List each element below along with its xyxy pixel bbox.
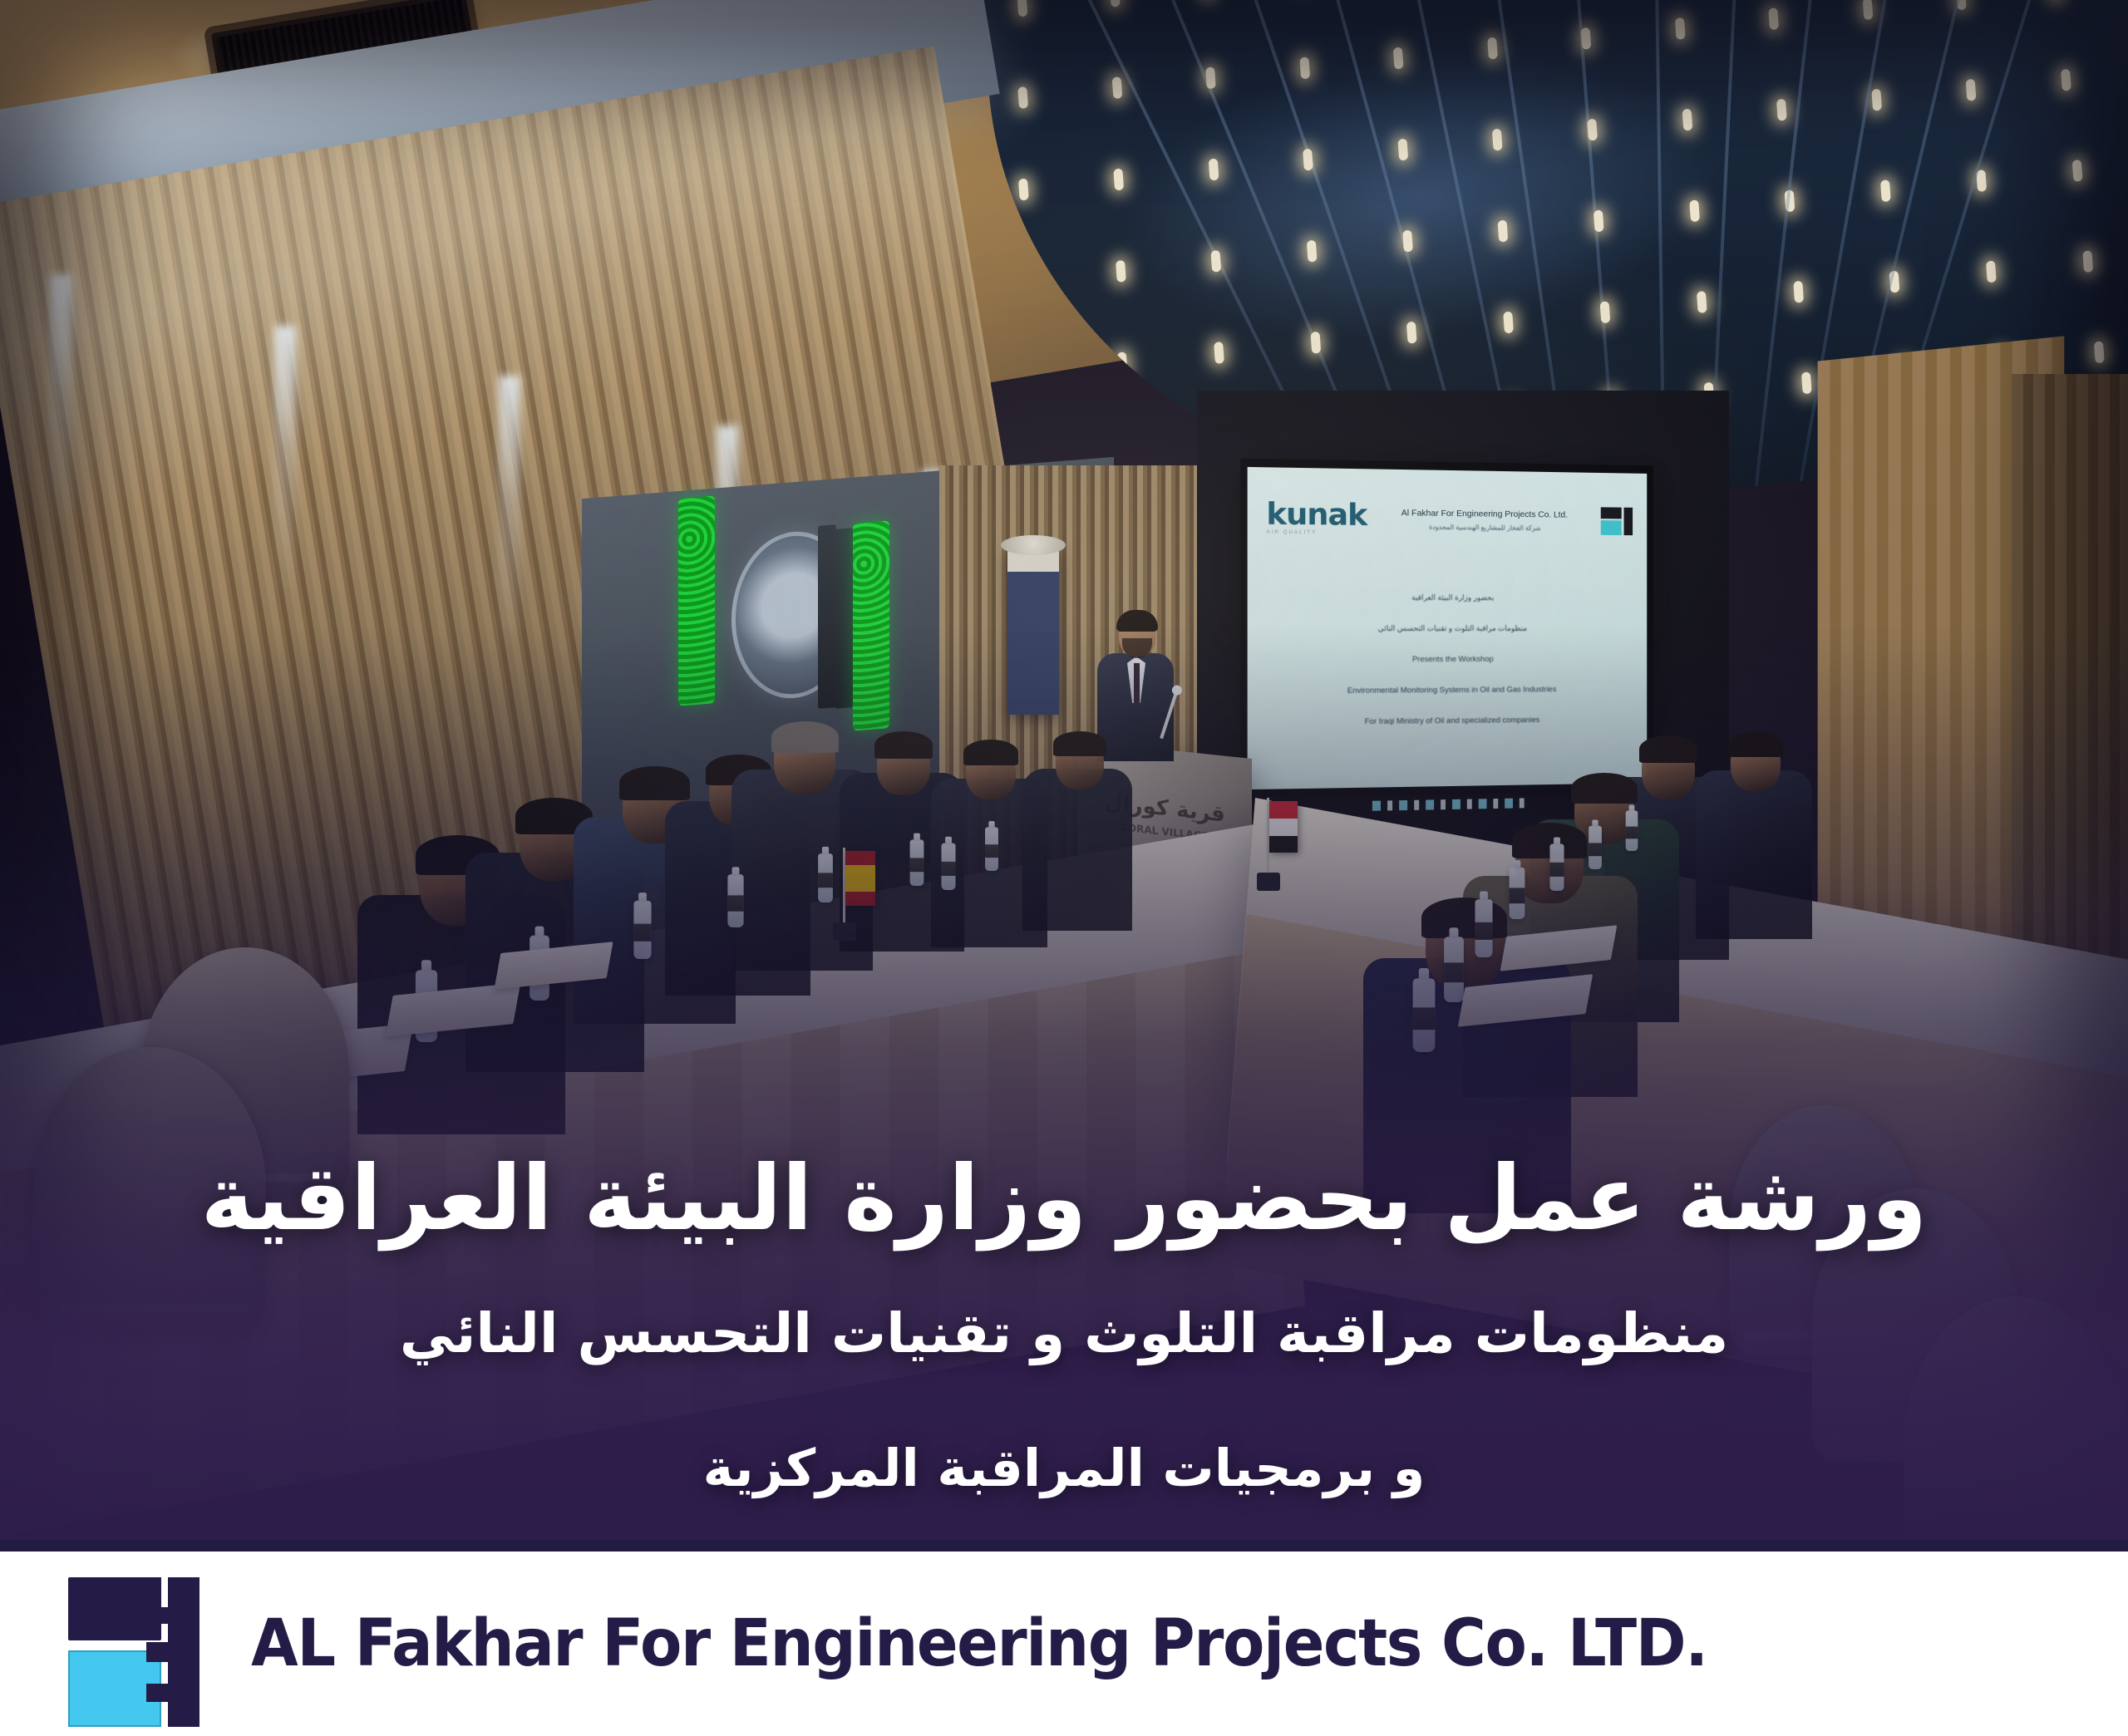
ceiling-led bbox=[1776, 99, 1787, 121]
ceiling-led bbox=[1310, 332, 1321, 354]
ceiling-led bbox=[1205, 66, 1216, 89]
ceiling-led bbox=[1793, 281, 1804, 303]
ceiling-led bbox=[2050, 0, 2061, 1]
slide-body: بحضور وزارة البيئة العراقية منظومات مراق… bbox=[1277, 593, 1623, 749]
wall-tapestry bbox=[1007, 548, 1059, 715]
wall-plaque bbox=[835, 528, 853, 709]
water-bottle bbox=[941, 843, 955, 890]
kunak-logo: kunak AIR QUALITY bbox=[1266, 499, 1367, 536]
ceiling-led bbox=[1116, 260, 1126, 283]
ceiling-led bbox=[1503, 311, 1514, 333]
ceiling-led bbox=[1674, 17, 1685, 40]
company-name: AL Fakhar For Engineering Projects Co. L… bbox=[251, 1606, 1707, 1681]
water-bottle bbox=[1510, 868, 1525, 919]
ceiling-led bbox=[1768, 7, 1779, 30]
ceiling-led bbox=[2061, 69, 2071, 91]
ceiling-led bbox=[1402, 230, 1413, 253]
slide-surface: kunak AIR QUALITY Al Fakhar For Engineer… bbox=[1248, 467, 1648, 789]
wall-downlight bbox=[50, 274, 71, 548]
ceiling-led bbox=[1487, 37, 1498, 60]
ceiling-led bbox=[1019, 270, 1030, 293]
ceiling-led bbox=[1581, 27, 1592, 50]
al-fakhar-logo-icon bbox=[60, 1571, 206, 1717]
ceiling-led bbox=[1406, 322, 1417, 344]
ceiling-led bbox=[1111, 76, 1122, 99]
water-bottle bbox=[985, 827, 998, 871]
ceiling-led bbox=[2094, 341, 2105, 363]
slide-header: kunak AIR QUALITY Al Fakhar For Engineer… bbox=[1266, 499, 1633, 539]
ceiling-led bbox=[1682, 109, 1692, 131]
ceiling-led bbox=[1113, 168, 1124, 190]
ceiling-led bbox=[1492, 129, 1503, 151]
ceiling-led bbox=[1594, 209, 1604, 232]
wall-plaque bbox=[818, 524, 836, 709]
water-bottle bbox=[727, 874, 743, 927]
ceiling-led bbox=[1689, 199, 1700, 222]
ceiling-led bbox=[1862, 0, 1873, 20]
water-bottle bbox=[633, 901, 651, 959]
ceiling-led bbox=[1017, 0, 1027, 17]
ceiling-led bbox=[1600, 301, 1611, 323]
brand-footer: AL Fakhar For Engineering Projects Co. L… bbox=[0, 1540, 2128, 1736]
ceiling-led bbox=[1018, 178, 1029, 200]
ceiling-led bbox=[1587, 119, 1598, 141]
ceiling-led bbox=[2082, 250, 2093, 273]
poster-subtitle-2: و برمجيات المراقبة المركزية bbox=[100, 1438, 2028, 1498]
water-bottle bbox=[1444, 937, 1464, 1002]
water-bottle bbox=[910, 839, 924, 886]
ceiling-led bbox=[1498, 219, 1509, 242]
ceiling-led bbox=[1801, 371, 1812, 394]
slide-company-block: Al Fakhar For Engineering Projects Co. L… bbox=[1375, 507, 1593, 532]
poster-title: ورشة عمل بحضور وزارة البيئة العراقية bbox=[100, 1149, 2028, 1250]
ceiling-led bbox=[1208, 159, 1219, 181]
water-bottle bbox=[1549, 843, 1564, 891]
ceiling-led bbox=[1697, 291, 1707, 313]
water-bottle bbox=[1589, 826, 1602, 869]
wall-downlight bbox=[499, 376, 520, 650]
ceiling-led bbox=[1986, 260, 1997, 283]
wall-downlight bbox=[274, 326, 296, 600]
attendee-person bbox=[1022, 731, 1132, 931]
water-bottle bbox=[1626, 810, 1638, 851]
ceiling-led bbox=[1303, 149, 1313, 171]
ceiling-led bbox=[1299, 57, 1310, 79]
ceiling-led bbox=[1017, 86, 1028, 109]
ceiling-led bbox=[1397, 139, 1408, 161]
ceiling-led bbox=[1880, 180, 1891, 202]
ceiling-led bbox=[1307, 240, 1318, 263]
ceiling-led bbox=[1021, 361, 1032, 384]
poster-text-overlay: ورشة عمل بحضور وزارة البيئة العراقية منظ… bbox=[0, 1149, 2128, 1540]
attendee-person bbox=[1696, 731, 1812, 939]
ceiling-led bbox=[1393, 47, 1404, 70]
ceiling-led bbox=[1117, 352, 1128, 374]
poster-subtitle-1: منظومات مراقبة التلوث و تقنيات التحسس ال… bbox=[100, 1301, 2028, 1366]
al-fakhar-mini-logo-icon bbox=[1601, 507, 1633, 535]
ceiling-led bbox=[2071, 160, 2082, 182]
projection-screen: kunak AIR QUALITY Al Fakhar For Engineer… bbox=[1240, 459, 1653, 799]
ceiling-led bbox=[1214, 342, 1224, 364]
ceiling-led bbox=[1871, 89, 1882, 111]
ceiling-led bbox=[1966, 79, 1977, 101]
green-hedge-panel bbox=[678, 495, 715, 706]
water-bottle bbox=[1413, 978, 1436, 1052]
ceiling-led bbox=[1211, 250, 1222, 273]
water-bottle bbox=[818, 853, 833, 902]
poster-root: kunak AIR QUALITY Al Fakhar For Engineer… bbox=[0, 0, 2128, 1736]
ceiling-led bbox=[1119, 444, 1130, 466]
green-hedge-panel bbox=[853, 520, 889, 730]
ceiling-led bbox=[1110, 0, 1121, 7]
water-bottle bbox=[1475, 899, 1492, 957]
